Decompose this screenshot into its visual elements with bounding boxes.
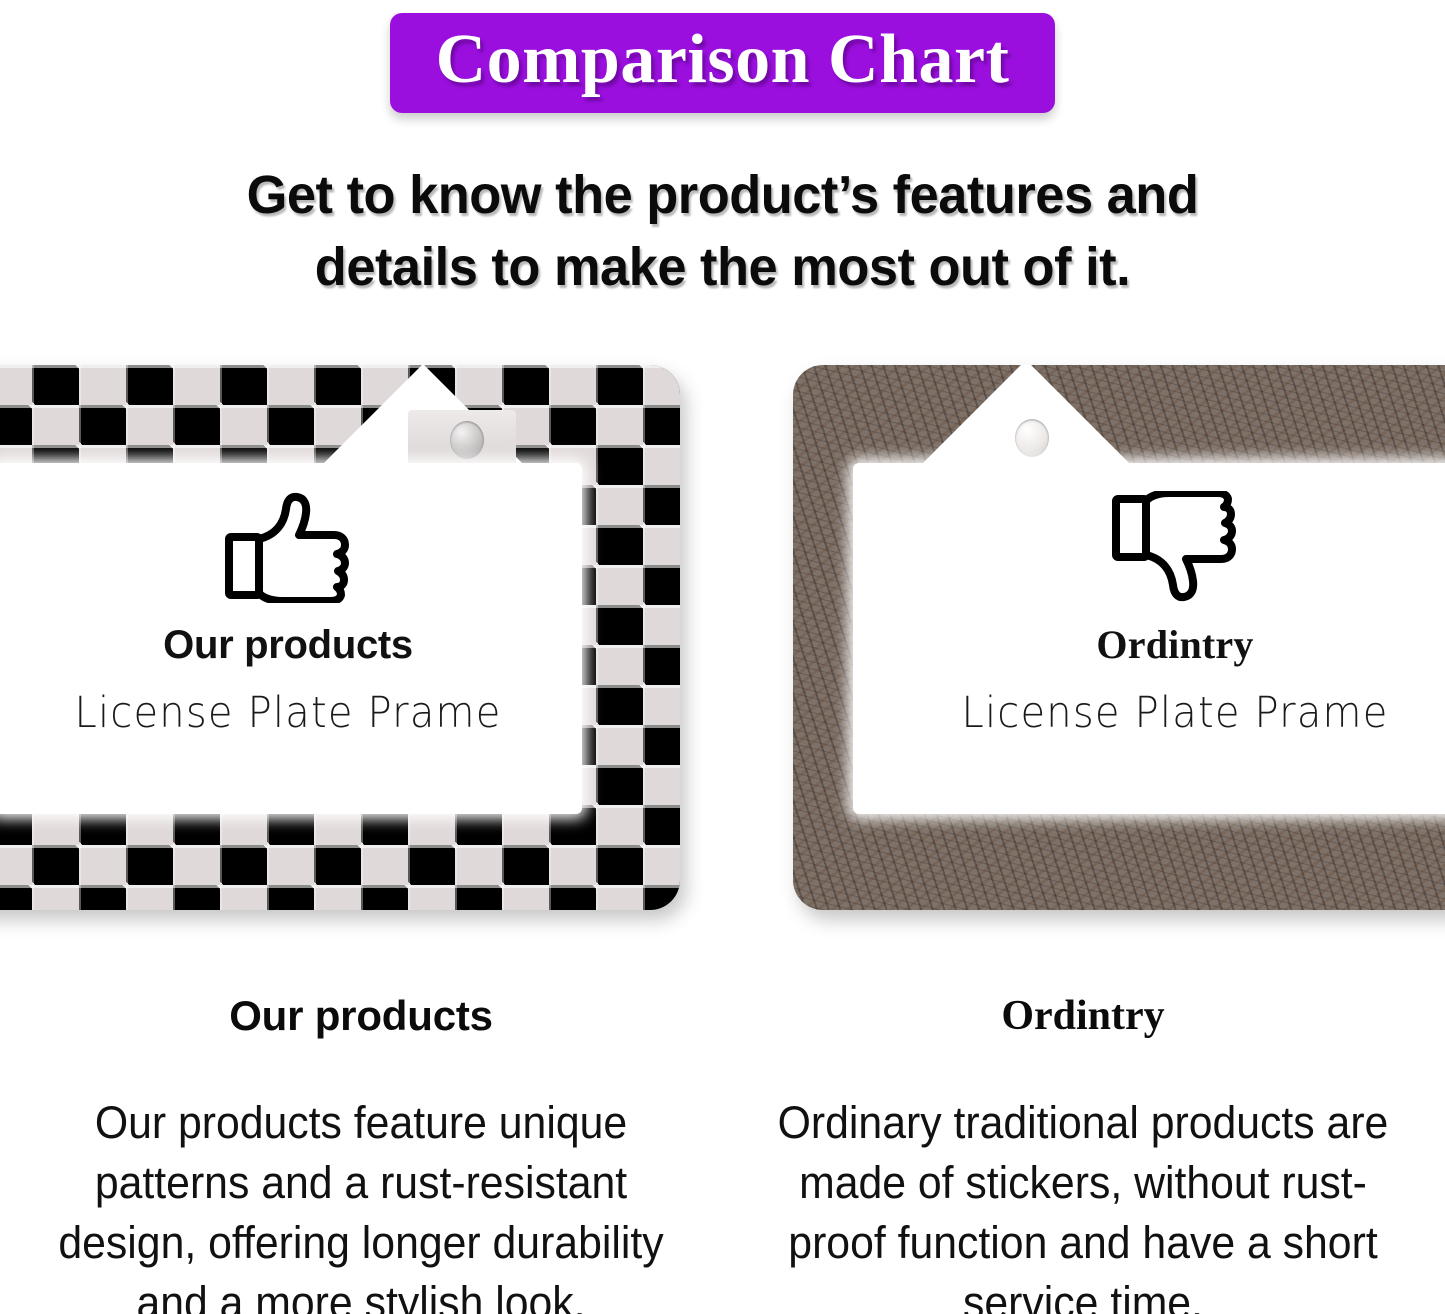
page-subtitle: Get to know the product’s features and d… bbox=[22, 160, 1424, 304]
subtitle-line-1: Get to know the product’s features and bbox=[22, 160, 1424, 232]
description-column-left: Our products Our products feature unique… bbox=[0, 995, 722, 1314]
plate-brand-right: Ordintry bbox=[1096, 625, 1253, 665]
plate-subtitle-right: License Plate Prame bbox=[961, 692, 1388, 734]
description-columns: Our products Our products feature unique… bbox=[0, 995, 1445, 1314]
mount-hole-right bbox=[1015, 419, 1049, 457]
column-heading-right: Ordintry bbox=[722, 995, 1444, 1037]
comparison-chart-page: Comparison Chart Get to know the product… bbox=[0, 0, 1445, 1314]
plate-window-content-left: Our products License Plate Prame bbox=[0, 463, 582, 814]
title-banner: Comparison Chart bbox=[390, 13, 1056, 113]
thumbs-down-icon bbox=[1111, 491, 1239, 603]
plate-subtitle-left: License Plate Prame bbox=[74, 692, 501, 734]
subtitle-line-2: details to make the most out of it. bbox=[22, 232, 1424, 304]
column-heading-left: Our products bbox=[0, 995, 722, 1037]
column-body-right: Ordinary traditional products are made o… bbox=[740, 1093, 1426, 1314]
plate-window-left: Our products License Plate Prame bbox=[0, 463, 582, 814]
page-title: Comparison Chart bbox=[436, 23, 1010, 97]
plate-window-content-right: Ordintry License Plate Prame bbox=[853, 463, 1445, 814]
title-banner-wrapper: Comparison Chart bbox=[0, 13, 1445, 113]
product-frames-row: Our products License Plate Prame bbox=[0, 365, 1445, 920]
ordinary-product-frame: Ordintry License Plate Prame bbox=[793, 365, 1445, 910]
thumbs-up-icon bbox=[224, 491, 352, 603]
column-body-left: Our products feature unique patterns and… bbox=[18, 1093, 704, 1314]
plate-window-right: Ordintry License Plate Prame bbox=[853, 463, 1445, 814]
description-column-right: Ordintry Ordinary traditional products a… bbox=[722, 995, 1444, 1314]
our-product-frame: Our products License Plate Prame bbox=[0, 365, 680, 910]
mount-hole-left bbox=[450, 421, 484, 459]
plate-brand-left: Our products bbox=[163, 625, 413, 665]
